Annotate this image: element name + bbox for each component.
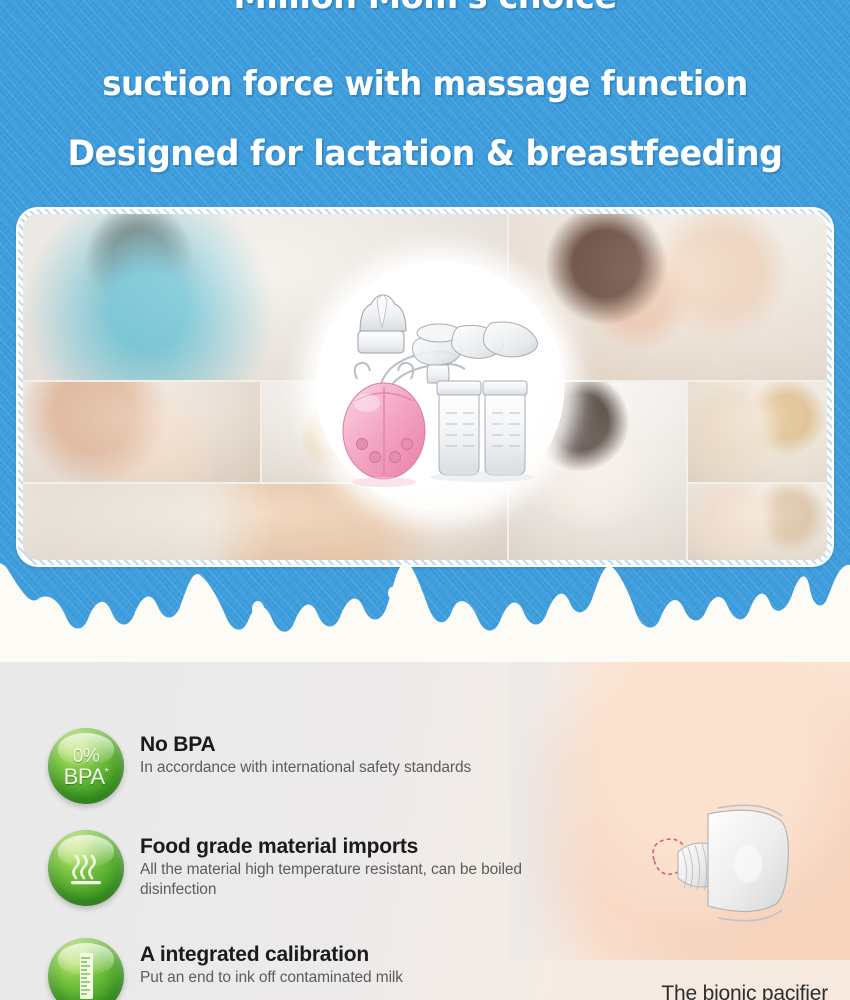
- no-bpa-icon: 0% BPA*: [48, 728, 124, 804]
- bottle-cap-part: [358, 295, 406, 353]
- feature-title: A integrated calibration: [140, 942, 403, 967]
- headline-tertiary: Designed for lactation & breastfeeding: [21, 137, 829, 172]
- feature-item-integrated-calibration: A integrated calibration Put an end to i…: [48, 938, 403, 1000]
- pink-motor-unit: [343, 363, 425, 487]
- hero-section: Million Mom's choice suction force with …: [0, 0, 850, 662]
- collage-photo-mother-kissing-infant-head: [688, 382, 827, 482]
- feature-item-food-grade: Food grade material imports All the mate…: [48, 830, 560, 906]
- milk-droplet: [607, 594, 617, 608]
- silicone-nipple-illustration: [648, 778, 798, 943]
- twin-pump-assembly: [413, 322, 538, 482]
- no-bpa-icon-bottom-label: BPA*: [64, 766, 109, 788]
- features-section: 0% BPA* No BPA In accordance with intern…: [0, 660, 850, 1000]
- milk-droplet: [252, 601, 264, 617]
- feature-description: In accordance with international safety …: [140, 758, 471, 778]
- heat-waves-glyph: [63, 845, 109, 891]
- breast-pump-product-illustration: [315, 261, 565, 511]
- headline-secondary: suction force with massage function: [21, 67, 829, 101]
- feature-description: All the material high temperature resist…: [140, 860, 560, 900]
- feature-item-no-bpa: 0% BPA* No BPA In accordance with intern…: [48, 728, 471, 804]
- heat-waves-icon: [48, 830, 124, 906]
- feature-title: No BPA: [140, 732, 471, 757]
- pacifier-caption: The bionic pacifier: [661, 982, 828, 1000]
- measuring-scale-icon: [48, 938, 124, 1000]
- milk-splash-divider: [0, 537, 850, 662]
- measuring-scale-glyph: [63, 951, 109, 1000]
- feature-title: Food grade material imports: [140, 834, 560, 859]
- collage-frame: [16, 207, 834, 567]
- collection-bottle-right: [483, 381, 527, 475]
- photo-collage: [23, 214, 827, 560]
- milk-droplet: [388, 587, 396, 599]
- collage-photo-mother-resting-with-newborn: [23, 382, 260, 482]
- no-bpa-icon-top-label: 0%: [64, 747, 109, 766]
- collection-bottle-left: [437, 381, 481, 475]
- headline-primary: Million Mom's choice: [17, 0, 833, 14]
- product-spotlight: [315, 261, 565, 511]
- feature-description: Put an end to ink off contaminated milk: [140, 968, 403, 988]
